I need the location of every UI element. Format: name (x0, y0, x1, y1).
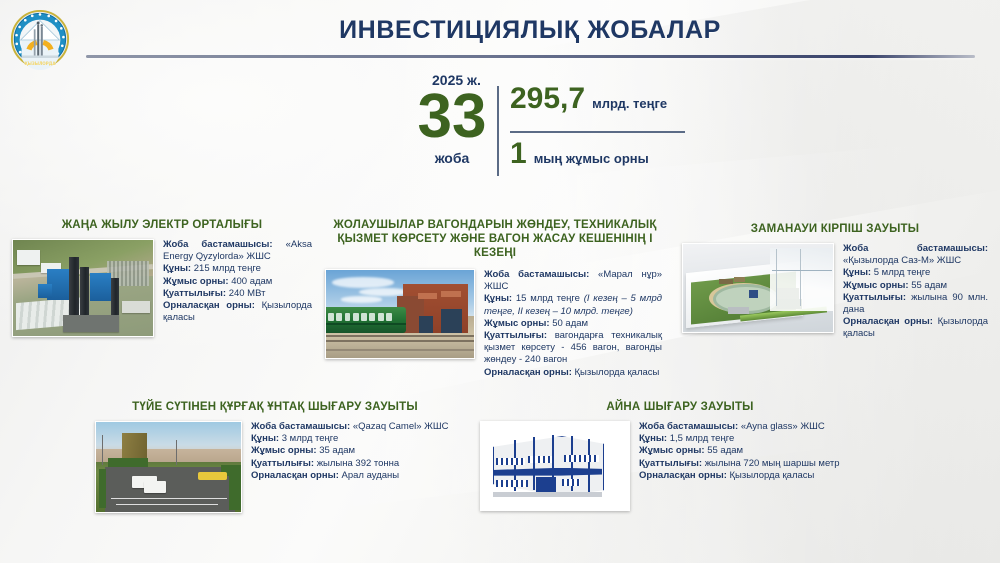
glass-factory-render (480, 421, 630, 511)
value-jobs: 35 адам (319, 445, 355, 456)
label-location: Орналасқан орны: (484, 367, 572, 378)
value-jobs: 400 адам (231, 276, 272, 287)
svg-text:ҚЫЗЫЛОРДА: ҚЫЗЫЛОРДА (25, 61, 57, 66)
label-location: Орналасқан орны: (639, 470, 727, 481)
project-title: ЖОЛАУШЫЛАР ВАГОНДАРЫН ЖӨНДЕУ, ТЕХНИКАЛЫҚ… (325, 218, 665, 260)
project-facts: Жоба бастамашысы: «Ayna glass» ЖШС Құны:… (639, 421, 879, 511)
title-divider (86, 55, 975, 58)
milk-powder-plant-render (95, 421, 242, 513)
label-cost: Құны: (843, 267, 871, 278)
kpi-jobs-value: 1 (510, 139, 527, 169)
kpi-metrics: 295,7 млрд. теңге 1 мың жұмыс орны (510, 84, 690, 184)
label-capacity: Қуаттылығы: (163, 288, 226, 299)
value-initiator: «Қызылорда Саз-М» ЖШС (843, 255, 961, 266)
kpi-vertical-divider (497, 86, 499, 176)
label-jobs: Жұмыс орны: (163, 276, 229, 287)
label-initiator: Жоба бастамашысы: (251, 421, 350, 432)
kpi-investment-value: 295,7 (510, 84, 585, 114)
project-facts: Жоба бастамашысы: «Қызылорда Саз-М» ЖШС … (843, 243, 988, 341)
label-capacity: Қуаттылығы: (639, 458, 702, 469)
value-initiator: «Qazaq Camel» ЖШС (353, 421, 449, 432)
slide-canvas: ҚЫЗЫЛОРДА ИНВЕСТИЦИЯЛЫҚ ЖОБАЛАР 2025 ж. … (0, 0, 1000, 563)
page-title: ИНВЕСТИЦИЯЛЫҚ ЖОБАЛАР (85, 16, 975, 45)
label-initiator: Жоба бастамашысы: (163, 239, 273, 250)
value-cost: 3 млрд теңге (282, 433, 339, 444)
kpi-investment-unit: млрд. теңге (592, 97, 667, 110)
value-location: Арал ауданы (342, 470, 400, 481)
label-capacity: Қуаттылығы: (843, 292, 906, 303)
value-cost: 5 млрд теңге (874, 267, 931, 278)
value-cost: 215 млрд теңге (194, 263, 261, 274)
kyzylorda-region-emblem-icon: ҚЫЗЫЛОРДА (9, 8, 71, 70)
label-location: Орналасқан орны: (843, 316, 933, 327)
value-jobs: 55 адам (911, 280, 947, 291)
value-capacity: жылына 720 мың шаршы метр (705, 458, 840, 469)
value-capacity: 240 МВт (229, 288, 266, 299)
value-cost: 15 млрд теңге (516, 293, 580, 304)
label-location: Орналасқан орны: (251, 470, 339, 481)
project-title: АЙНА ШЫҒАРУ ЗАУЫТЫ (480, 400, 880, 414)
kpi-investment-row: 295,7 млрд. теңге (510, 84, 690, 131)
label-initiator: Жоба бастамашысы: (843, 243, 988, 254)
label-jobs: Жұмыс орны: (639, 445, 705, 456)
project-card[interactable]: ТҮЙЕ СҮТІНЕН ҚҰРҒАҚ ҰНТАҚ ШЫҒАРУ ЗАУЫТЫ (95, 400, 455, 513)
label-cost: Құны: (639, 433, 667, 444)
brick-plant-model-photo (682, 243, 834, 333)
value-location: Қызылорда қаласы (730, 470, 815, 481)
label-jobs: Жұмыс орны: (484, 318, 550, 329)
project-card[interactable]: ЖАҢА ЖЫЛУ ЭЛЕКТР ОРТАЛЫҒЫ (12, 218, 312, 337)
project-card[interactable]: ЖОЛАУШЫЛАР ВАГОНДАРЫН ЖӨНДЕУ, ТЕХНИКАЛЫҚ… (325, 218, 665, 379)
railcar-depot-photo (325, 269, 475, 359)
value-initiator: «Ayna glass» ЖШС (741, 421, 825, 432)
thermal-power-plant-photo (12, 239, 154, 337)
label-jobs: Жұмыс орны: (251, 445, 317, 456)
project-facts: Жоба бастамашысы: «Марал нұр» ЖШС Құны: … (484, 269, 662, 379)
label-location: Орналасқан орны: (163, 300, 255, 311)
value-location: Қызылорда қаласы (575, 367, 660, 378)
label-initiator: Жоба бастамашысы: (639, 421, 738, 432)
kpi-jobs-row: 1 мың жұмыс орны (510, 133, 690, 184)
project-facts: Жоба бастамашысы: «Aksa Energy Qyzylorda… (163, 239, 312, 337)
value-jobs: 55 адам (707, 445, 743, 456)
label-cost: Құны: (251, 433, 279, 444)
value-cost: 1,5 млрд теңге (670, 433, 734, 444)
kpi-projects-label: жоба (392, 150, 512, 166)
label-capacity: Қуаттылығы: (251, 458, 314, 469)
label-cost: Құны: (163, 263, 191, 274)
label-cost: Құны: (484, 293, 512, 304)
project-card[interactable]: АЙНА ШЫҒАРУ ЗАУЫТЫ (480, 400, 880, 511)
label-capacity: Қуаттылығы: (484, 330, 547, 341)
value-capacity: жылына 392 тонна (317, 458, 400, 469)
label-initiator: Жоба бастамашысы: (484, 269, 589, 280)
project-title: ЗАМАНАУИ КІРПІШ ЗАУЫТЫ (682, 222, 988, 236)
label-jobs: Жұмыс орны: (843, 280, 909, 291)
kpi-jobs-unit: мың жұмыс орны (534, 152, 649, 165)
project-facts: Жоба бастамашысы: «Qazaq Camel» ЖШС Құны… (251, 421, 451, 513)
kpi-projects-count: 33 (392, 86, 512, 148)
kpi-summary-block: 2025 ж. 33 жоба 295,7 млрд. теңге 1 мың … (380, 72, 680, 182)
project-title: ТҮЙЕ СҮТІНЕН ҚҰРҒАҚ ҰНТАҚ ШЫҒАРУ ЗАУЫТЫ (95, 400, 455, 414)
project-card[interactable]: ЗАМАНАУИ КІРПІШ ЗАУЫТЫ (682, 222, 988, 341)
value-jobs: 50 адам (552, 318, 588, 329)
project-title: ЖАҢА ЖЫЛУ ЭЛЕКТР ОРТАЛЫҒЫ (12, 218, 312, 232)
